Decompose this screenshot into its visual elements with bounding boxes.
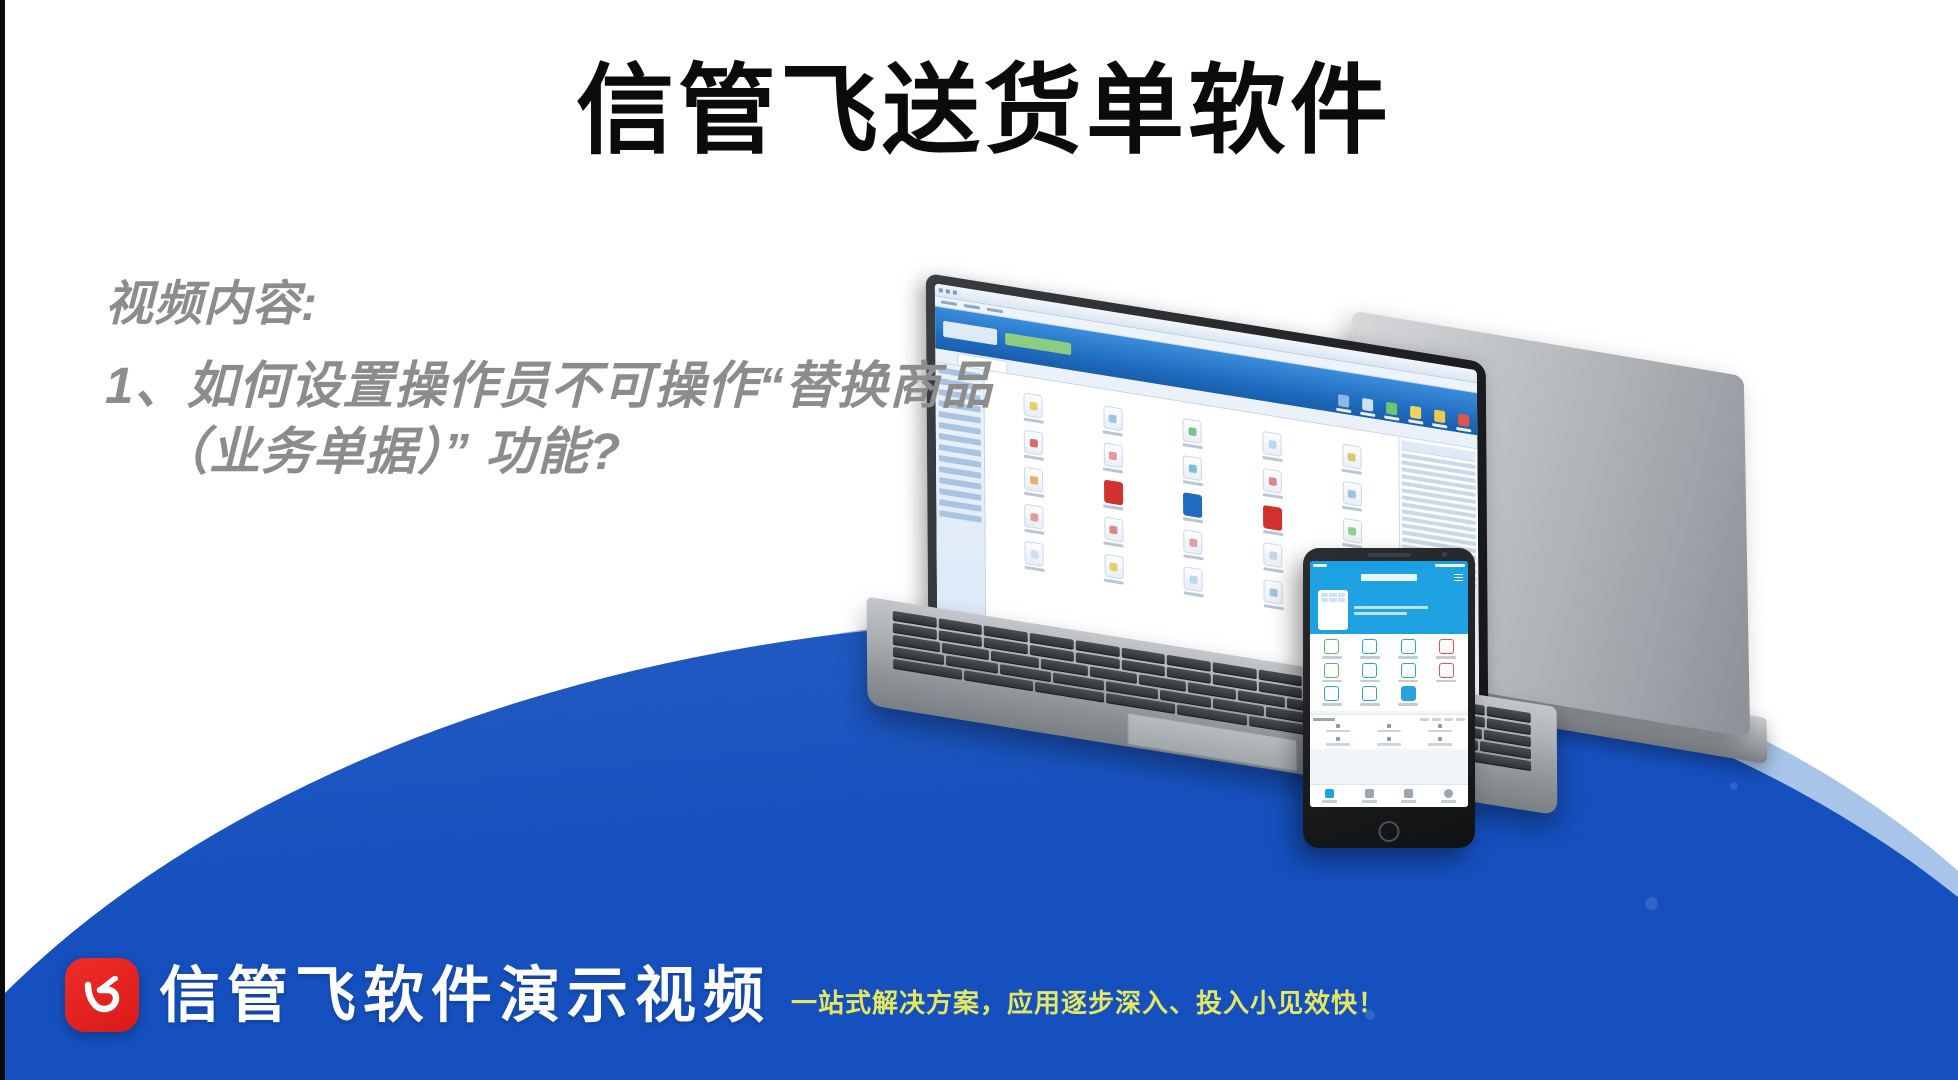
grid-icon-glyph [1264,579,1283,605]
page-title: 信管飞送货单软件 [5,54,1958,167]
search-icon [1410,406,1421,420]
add-icon [1338,394,1349,408]
grid-icon-label [1263,493,1283,499]
print-icon [1434,409,1445,423]
grid-icon-glyph [1343,518,1362,544]
stats-cell [1415,724,1465,733]
grid-icon-glyph [1184,529,1203,555]
grid-icon-glyph [1263,505,1282,531]
grid-icon-label [1183,480,1203,486]
grid-icon-label [1342,469,1362,475]
grid-icon-label [1104,504,1124,510]
stats-caption [1377,743,1401,746]
phone-grid-icon[interactable] [1351,663,1388,683]
nav-item-documents[interactable] [1350,789,1390,803]
phone-icon-label [1322,703,1342,706]
stats-cell [1415,737,1465,746]
phone-icon-label [1436,656,1456,659]
delete-icon [1386,402,1397,416]
stats-cell [1364,737,1414,746]
grid-icon-glyph [1342,481,1361,507]
grid-icon-label [1263,567,1283,573]
content-item-line1: 1、如何设置操作员不可操作“替换商品 [105,357,993,414]
signal-battery-icons [1435,564,1465,567]
phone-icon-glyph [1362,663,1377,678]
content-block: 视频内容: 1、如何设置操作员不可操作“替换商品 （业务单据）” 功能? [105,275,1125,486]
chart-icon [1404,789,1413,798]
phone-grid-icon[interactable] [1428,639,1465,659]
stats-cell [1364,724,1414,733]
phone-grid-icon[interactable] [1351,686,1388,706]
grid-icon-glyph [1025,541,1044,567]
phone-icon-grid[interactable] [1310,634,1468,711]
grid-icon-glyph [1263,542,1282,568]
phone-icon-label [1322,680,1342,683]
grid-icon-label [1262,456,1282,462]
clock-icon [1313,564,1327,567]
grid-icon-label [1263,530,1283,536]
grid-icon-label [1104,541,1124,547]
smartphone-device [1303,548,1475,848]
nav-item-home[interactable] [1310,789,1350,803]
phone-app-header [1310,569,1468,586]
footer-tagline: 一站式解决方案，应用逐步深入、投入小见效快！ [791,983,1385,1032]
grid-icon-glyph [1183,418,1202,444]
stats-rows [1313,724,1465,746]
phone-status-bar [1310,561,1468,569]
content-list-item: 1、如何设置操作员不可操作“替换商品 （业务单据）” 功能? [105,353,1125,486]
stats-caption [1326,730,1350,733]
toolbar-button-edit[interactable] [1360,398,1375,417]
content-label: 视频内容: [105,275,1125,335]
stats-caption [1428,730,1452,733]
presentation-slide: 信管飞送货单软件 视频内容: 1、如何设置操作员不可操作“替换商品 （业务单据）… [0,0,1958,1080]
grid-icon-glyph [1183,455,1202,481]
grid-icon-glyph [1104,517,1123,543]
grid-icon-label [1183,517,1203,523]
footer-bar: 信管飞软件演示视频 一站式解决方案，应用逐步深入、投入小见效快！ [65,958,1385,1032]
phone-icon-glyph [1324,663,1339,678]
phone-icon-glyph [1439,639,1454,654]
phone-screen [1310,561,1468,807]
hero-text [1354,606,1460,615]
toolbar-button-delete[interactable] [1384,401,1399,420]
phone-stats-panel [1310,714,1468,749]
phone-camera-icon [1442,552,1447,557]
stats-cell [1313,724,1363,733]
phone-grid-icon[interactable] [1390,663,1427,683]
sidebar-item[interactable] [939,510,981,523]
stats-filters[interactable] [1420,718,1465,721]
grid-icon-glyph [1183,492,1202,518]
hero-device-icon [1318,590,1348,630]
stats-cell [1313,737,1363,746]
phone-grid-icon[interactable] [1351,639,1388,659]
phone-icon-label [1360,703,1380,706]
grid-icon-label [1024,529,1044,535]
stats-header [1313,718,1465,721]
phone-icon-label [1360,680,1380,683]
stats-value [1336,724,1340,728]
stats-title [1313,718,1335,721]
stats-value [1336,737,1340,741]
edit-icon [1362,398,1373,412]
phone-icon-glyph [1401,639,1416,654]
grid-icon-glyph [1184,566,1203,592]
grid-icon-label [1183,443,1203,449]
nav-item-profile[interactable] [1429,789,1469,803]
phone-icon-glyph [1401,686,1416,701]
phone-icon-glyph [1362,686,1377,701]
stats-value [1438,724,1442,728]
sidebar-item[interactable] [939,499,981,512]
home-icon [1325,789,1334,798]
stats-caption [1377,730,1401,733]
phone-grid-icon[interactable] [1313,663,1350,683]
xinguanfei-bird-logo-icon [65,958,139,1032]
grid-icon-glyph [1263,431,1282,457]
hero-grid-icon [1321,593,1345,602]
footer-brand-text: 信管飞软件演示视频 [159,965,771,1026]
stats-value [1387,737,1391,741]
phone-bottom-nav[interactable] [1310,784,1468,807]
phone-grid-icon[interactable] [1313,686,1350,706]
phone-icon-label [1398,680,1418,683]
grid-icon-label [1024,566,1044,572]
sidebar-item[interactable] [939,488,981,501]
grid-icon-label [1342,506,1362,512]
grid-icon-label [1184,591,1204,597]
phone-hero-banner [1310,586,1468,634]
grid-icon-label [1183,554,1203,560]
hamburger-menu-icon[interactable] [1454,574,1463,582]
exit-icon [1458,413,1469,427]
document-icon [1365,789,1374,798]
nav-item-reports[interactable] [1389,789,1429,803]
phone-grid-icon[interactable] [1390,639,1427,659]
phone-icon-label [1398,656,1418,659]
phone-icon-glyph [1401,663,1416,678]
grid-icon-glyph [1342,444,1361,470]
phone-icon-label [1398,703,1418,706]
phone-grid-icon[interactable] [1428,663,1465,683]
phone-icon-label [1322,656,1342,659]
stats-value [1387,724,1391,728]
phone-grid-icon[interactable] [1313,639,1350,659]
toolbar-button-search[interactable] [1408,405,1423,424]
phone-icon-glyph [1362,639,1377,654]
grid-icon-label [1263,604,1283,610]
stats-value [1438,737,1442,741]
phone-home-button[interactable] [1379,821,1400,842]
phone-icon-label [1360,656,1380,659]
phone-icon-label [1436,680,1456,683]
phone-icon-glyph [1324,639,1339,654]
toolbar-button-exit[interactable] [1456,413,1471,432]
stats-caption [1326,743,1350,746]
grid-icon-glyph [1263,468,1282,494]
phone-grid-icon[interactable] [1390,686,1427,706]
phone-app-title [1361,574,1417,581]
phone-icon-glyph [1324,686,1339,701]
toolbar-button-add[interactable] [1336,394,1351,413]
stats-caption [1428,743,1452,746]
phone-speaker-icon [1368,553,1410,557]
content-item-line2: （业务单据）” 功能? [105,419,1125,485]
grid-icon-label [1024,492,1044,498]
toolbar-button-print[interactable] [1432,409,1447,428]
grid-icon-glyph [1025,504,1044,530]
grid-icon-glyph [1104,554,1123,580]
user-icon [1444,789,1453,798]
phone-icon-glyph [1439,663,1454,678]
grid-icon-label [1104,578,1124,584]
